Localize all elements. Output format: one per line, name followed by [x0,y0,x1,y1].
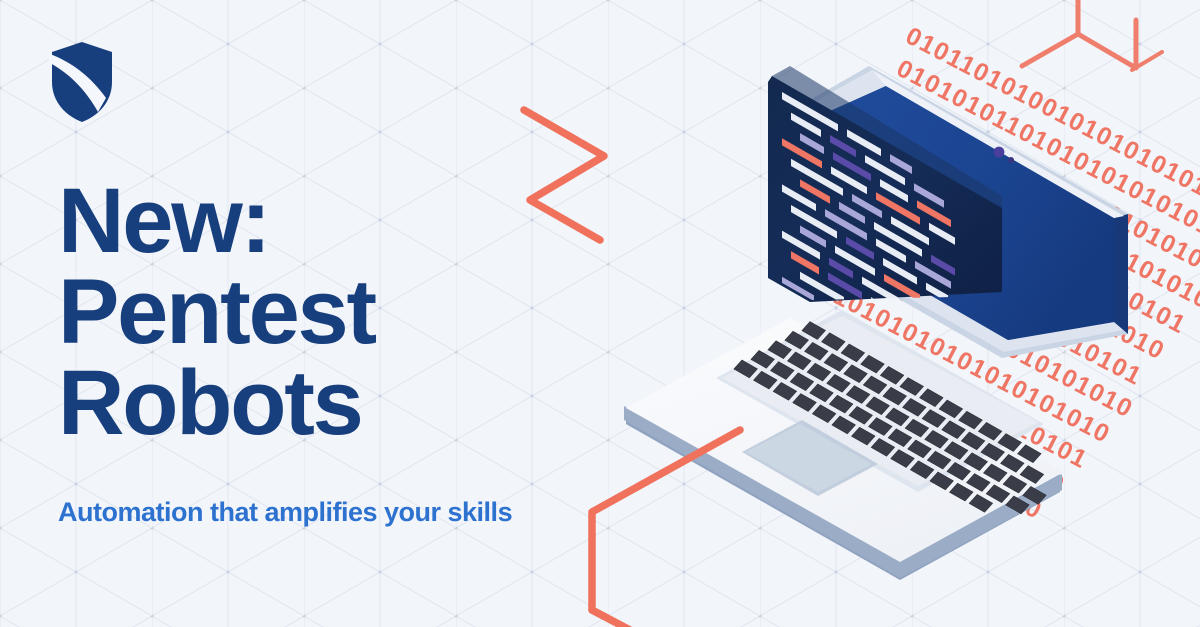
coral-zigzag-left [524,110,604,240]
laptop-illustration [0,0,1200,627]
webcam-dot [994,147,1005,158]
code-token [920,325,946,347]
coral-zigzag-top-right [1022,0,1162,70]
promo-banner: New: Pentest Robots Automation that ampl… [0,0,1200,627]
